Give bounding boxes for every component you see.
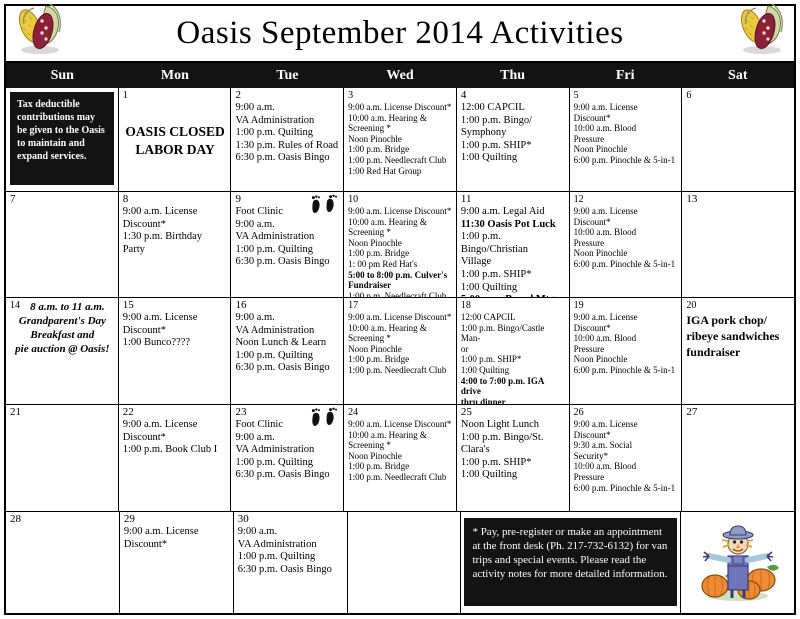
event-line: Security* (574, 451, 679, 462)
event-list: 9:00 a.m. License Discount*10:00 a.m. Bl… (574, 102, 679, 166)
event-list: Noon Light Lunch1:00 p.m. Bingo/St.Clara… (461, 419, 566, 482)
event-line: 9:00 a.m. License (574, 312, 679, 323)
event-list: 9:00 a.m. License Discount*10:00 a.m. Bl… (574, 312, 679, 376)
day-cell-18[interactable]: 18 12:00 CAPCIL1:00 p.m. Bingo/Castle Ma… (457, 298, 570, 404)
event-line: thru dinner (461, 397, 566, 404)
event-line: 1:00 p.m. Quilting (238, 551, 344, 564)
event-line: 1:00 p.m. Bridge (348, 144, 453, 155)
day-cell-28[interactable]: 28 (6, 512, 120, 613)
day-number: 26 (574, 407, 679, 418)
event-line: 9:00 a.m. License Discount* (348, 102, 453, 113)
event-list: 9:00 a.m. License Discount*10:00 a.m. He… (348, 102, 453, 176)
footprints-icon (309, 407, 339, 429)
event-line: 11:30 Oasis Pot Luck (461, 219, 566, 232)
day-number: 24 (348, 407, 453, 418)
event-line: Noon Pinochle (348, 134, 453, 145)
calendar-page: Oasis September 2014 Activities Sun Mon … (0, 4, 800, 619)
event-line: Screening * (348, 440, 453, 451)
event-line: VA Administration (235, 231, 340, 244)
day-number: 17 (348, 300, 453, 311)
event-line: 10:00 a.m. Hearing & (348, 323, 453, 334)
event-line: 6:00 p.m. Pinochle & 5-in-1 (574, 155, 679, 166)
fundraiser-line-1: IGA pork chop/ (686, 313, 767, 327)
day-number: 10 (348, 194, 453, 205)
event-line: 4:00 to 7:00 p.m. IGA drive (461, 376, 566, 397)
event-line: Fundraiser (348, 280, 453, 291)
weekday-sun: Sun (6, 63, 119, 88)
day-number: 12 (574, 194, 679, 205)
event-list: 9:00 a.m. LicenseDiscount*10:00 a.m. Blo… (574, 206, 679, 270)
event-line: Noon Pinochle (348, 451, 453, 462)
day-number: 22 (123, 407, 228, 418)
event-line: 1:00 p.m. Bingo/Christian (461, 231, 566, 256)
event-line: 6:00 p.m. Pinochle & 5-in-1 (574, 259, 679, 270)
fundraiser-line-2: ribeye sandwiches (686, 329, 779, 343)
event-line: Pressure (574, 344, 679, 355)
grandparents-line-2: Grandparent's Day (19, 315, 106, 327)
day-cell-tax-note: Tax deductible contributions may be give… (6, 88, 119, 191)
event-line: 1:00 p.m. Quilting (235, 244, 340, 257)
event-list: 9:00 a.m. License Discount* (124, 526, 230, 551)
grandparents-line-4: pie auction @ Oasis! (15, 343, 109, 355)
footprints-icon (309, 194, 339, 216)
event-line: 9:00 a.m. Legal Aid (461, 206, 566, 219)
event-line: 9:00 a.m. License (123, 312, 228, 325)
day-number: 16 (235, 300, 340, 311)
event-line: 6:30 p.m. Oasis Bingo (238, 564, 344, 577)
day-number: 29 (124, 514, 230, 525)
day-number: 1 (123, 90, 228, 101)
event-line: Noon Lunch & Learn (235, 337, 340, 350)
day-cell-24[interactable]: 24 9:00 a.m. License Discount*10:00 a.m.… (344, 405, 457, 511)
day-cell-2[interactable]: 2 9:00 a.m.VA Administration1:00 p.m. Qu… (231, 88, 344, 191)
event-line: 1:00 p.m. SHIP* (461, 457, 566, 470)
event-list: 9:00 a.m. License Discount*10:00 a.m. He… (348, 206, 453, 297)
event-line: Noon Pinochle (348, 238, 453, 249)
day-cell-7[interactable]: 7 (6, 192, 119, 297)
event-line: 10:00 a.m. Blood (574, 227, 679, 238)
event-line: 1:00 Quilting (461, 469, 566, 482)
event-line: 9:00 a.m. License (123, 206, 228, 219)
event-line: VA Administration (238, 539, 344, 552)
calendar-week-row: 21 22 9:00 a.m. License Discount*1:00 p.… (6, 405, 794, 512)
event-line: Discount* (574, 430, 679, 441)
event-list: 9:00 a.m. License Discount*10:00 a.m. He… (348, 419, 453, 483)
day-number: 13 (686, 194, 791, 205)
event-line: 6:00 p.m. Pinochle & 5-in-1 (574, 365, 679, 376)
event-line: 6:30 p.m. Oasis Bingo (235, 469, 340, 482)
day-number: 28 (10, 514, 116, 525)
weekday-mon: Mon (119, 63, 232, 88)
event-line: Noon Pinochle (348, 344, 453, 355)
event-list: 12:00 CAPCIL1:00 p.m. Bingo/Castle Man-o… (461, 312, 566, 404)
event-list: 9:00 a.m.VA Administration1:00 p.m. Quil… (238, 526, 344, 576)
day-number: 25 (461, 407, 566, 418)
event-line: 6:30 p.m. Oasis Bingo (235, 362, 340, 375)
event-line: Discount* (574, 217, 679, 228)
event-line: Pressure (574, 238, 679, 249)
event-list: 9:00 a.m. Legal Aid11:30 Oasis Pot Luck1… (461, 206, 566, 297)
event-line: 1:00 p.m. Needlecraft Club (348, 472, 453, 483)
event-line: Symphony (461, 127, 566, 140)
event-line: Party (123, 244, 228, 257)
day-number: 11 (461, 194, 566, 205)
event-line: 1:00 p.m. Needlecraft Club (348, 365, 453, 376)
day-number: 4 (461, 90, 566, 101)
day-cell-empty-1 (348, 512, 462, 613)
event-line: 10:00 a.m. Hearing & (348, 113, 453, 124)
event-list: 12:00 CAPCIL1:00 p.m. Bingo/Symphony1:00… (461, 102, 566, 165)
fundraiser-line-3: fundraiser (686, 345, 740, 359)
day-cell-1[interactable]: 1 OASIS CLOSED LABOR DAY (119, 88, 232, 191)
day-number: 15 (123, 300, 228, 311)
weekday-sat: Sat (681, 63, 794, 88)
event-line: 1:00 p.m. Bingo/Castle Man- (461, 323, 566, 344)
day-cell-5[interactable]: 5 9:00 a.m. License Discount*10:00 a.m. … (570, 88, 683, 191)
event-line: 1:00 p.m. Bridge (348, 248, 453, 259)
day-20-fundraiser-note: IGA pork chop/ ribeye sandwiches fundrai… (686, 312, 791, 360)
day-cell-13[interactable]: 13 (682, 192, 794, 297)
calendar-title-bar: Oasis September 2014 Activities (4, 4, 796, 63)
page-title: Oasis September 2014 Activities (176, 15, 623, 52)
day-cell-17[interactable]: 17 9:00 a.m. License Discount*10:00 a.m.… (344, 298, 457, 404)
event-line: 6:30 p.m. Oasis Bingo (235, 152, 340, 165)
event-line: Clara's (461, 444, 566, 457)
day-cell-6[interactable]: 6 (682, 88, 794, 191)
event-line: 1:00 Quilting (461, 282, 566, 295)
event-line: 1:00 p.m. Bridge (348, 354, 453, 365)
event-line: Discount* (123, 432, 228, 445)
event-line: 12:00 CAPCIL (461, 102, 566, 115)
event-list: 9:00 a.m. License Discount*1:30 p.m. Bir… (123, 206, 228, 256)
day-cell-4[interactable]: 4 12:00 CAPCIL1:00 p.m. Bingo/Symphony1:… (457, 88, 570, 191)
event-line: Screening * (348, 333, 453, 344)
event-list: 9:00 a.m.VA Administration1:00 p.m. Quil… (235, 102, 340, 165)
event-line: 5:00 p.m. Board Mtg. (461, 294, 566, 297)
event-list: 9:00 a.m. LicenseDiscount*1:00 Bunco???? (123, 312, 228, 350)
event-line: Discount* (574, 323, 679, 334)
event-line: 9:00 a.m. License (574, 102, 679, 113)
calendar-week-row: Tax deductible contributions may be give… (6, 88, 794, 192)
event-line: 1: 00 pm Red Hat's (348, 259, 453, 270)
tax-deductible-note: Tax deductible contributions may be give… (10, 92, 114, 185)
event-line: 6:00 p.m. Pinochle & 5-in-1 (574, 483, 679, 494)
event-line: 1:00 Red Hat Group (348, 166, 453, 177)
day-cell-25[interactable]: 25 Noon Light Lunch1:00 p.m. Bingo/St.Cl… (457, 405, 570, 511)
event-line: 1:00 Bunco???? (123, 337, 228, 350)
footer-instructions-note: * Pay, pre-register or make an appointme… (464, 518, 677, 606)
event-line: 1:00 p.m. Bridge (348, 461, 453, 472)
event-line: Discount* (574, 113, 679, 124)
weekday-tue: Tue (231, 63, 344, 88)
event-line: 1:00 p.m. Quilting (235, 457, 340, 470)
event-line: Pressure (574, 472, 679, 483)
event-line: 9:00 a.m. License (124, 526, 230, 539)
day-cell-15[interactable]: 15 9:00 a.m. LicenseDiscount*1:00 Bunco?… (119, 298, 232, 404)
event-line: Discount* (123, 219, 228, 232)
event-line: 9:30 a.m. Social (574, 440, 679, 451)
event-line: 10:00 a.m. Blood (574, 333, 679, 344)
weekday-header-row: Sun Mon Tue Wed Thu Fri Sat (4, 63, 796, 88)
event-line: 1:00 Quilting (461, 365, 566, 376)
weekday-wed: Wed (344, 63, 457, 88)
event-line: 9:00 a.m. License Discount* (348, 206, 453, 217)
calendar-week-row: 28 29 9:00 a.m. License Discount* 30 9:0… (6, 512, 794, 613)
day-cell-12[interactable]: 12 9:00 a.m. LicenseDiscount*10:00 a.m. … (570, 192, 683, 297)
event-line: Screening * (348, 123, 453, 134)
day-number: 14 (10, 300, 20, 311)
day-cell-19[interactable]: 19 9:00 a.m. License Discount*10:00 a.m.… (570, 298, 683, 404)
event-line: 10:00 a.m. Hearing & (348, 430, 453, 441)
event-line: 10:00 a.m. Hearing & Screening * (348, 217, 453, 238)
event-line: 1:00 p.m. Book Club I (123, 444, 228, 457)
event-line: 12:00 CAPCIL (461, 312, 566, 323)
weekday-fri: Fri (569, 63, 682, 88)
day-1-closed-label: OASIS CLOSED LABOR DAY (123, 123, 228, 159)
event-line: 9:00 a.m. (235, 219, 340, 232)
day-cell-20[interactable]: 20 IGA pork chop/ ribeye sandwiches fund… (682, 298, 794, 404)
day-cell-16[interactable]: 16 9:00 a.m.VA AdministrationNoon Lunch … (231, 298, 344, 404)
event-line: 9:00 a.m. License Discount* (348, 419, 453, 430)
day-number: 27 (686, 407, 791, 418)
event-line: 1:00 p.m. SHIP* (461, 269, 566, 282)
day-number: 30 (238, 514, 344, 525)
event-line: 9:00 a.m. License Discount* (348, 312, 453, 323)
event-line: or (461, 344, 566, 355)
grandparents-line-1: 8 a.m. to 11 a.m. (30, 301, 105, 313)
event-line: 9:00 a.m. (235, 432, 340, 445)
day-number: 5 (574, 90, 679, 101)
event-line: Discount* (124, 539, 230, 552)
scarecrow-icon (695, 520, 781, 606)
event-line: Noon Pinochle (574, 248, 679, 259)
day-cell-10[interactable]: 10 9:00 a.m. License Discount*10:00 a.m.… (344, 192, 457, 297)
event-line: 1:00 Quilting (461, 152, 566, 165)
event-line: 1:00 p.m. Bingo/St. (461, 432, 566, 445)
event-line: 1:00 p.m. SHIP* (461, 354, 566, 365)
event-list: 9:00 a.m. License Discount*10:00 a.m. He… (348, 312, 453, 376)
day-number: 21 (10, 407, 115, 418)
calendar-week-row: 14 8 a.m. to 11 a.m. Grandparent's Day B… (6, 298, 794, 405)
day-number: 7 (10, 194, 115, 205)
event-line: 5:00 to 8:00 p.m. Culver's (348, 270, 453, 281)
event-line: 1:30 p.m. Birthday (123, 231, 228, 244)
day-number: 20 (686, 300, 791, 311)
event-line: 6:30 p.m. Oasis Bingo (235, 256, 340, 269)
day-number: 3 (348, 90, 453, 101)
day-cell-27[interactable]: 27 (682, 405, 794, 511)
event-line: 9:00 a.m. License (123, 419, 228, 432)
day-number: 8 (123, 194, 228, 205)
event-line: 9:00 a.m. (238, 526, 344, 539)
day-number: 2 (235, 90, 340, 101)
day-cell-29[interactable]: 29 9:00 a.m. License Discount* (120, 512, 234, 613)
day-number: 18 (461, 300, 566, 311)
day-cell-21[interactable]: 21 (6, 405, 119, 511)
day-number: 6 (686, 90, 791, 101)
event-line: 9:00 a.m. (235, 312, 340, 325)
calendar-week-row: 7 8 9:00 a.m. License Discount*1:30 p.m.… (6, 192, 794, 298)
event-line: Discount* (123, 325, 228, 338)
event-line: 1:00 p.m. Quilting (235, 350, 340, 363)
corn-icon (12, 0, 66, 58)
event-line: VA Administration (235, 444, 340, 457)
event-line: 1:30 p.m. Rules of Road (235, 140, 340, 153)
event-list: 9:00 a.m.VA AdministrationNoon Lunch & L… (235, 312, 340, 375)
event-line: Village (461, 256, 566, 269)
grandparents-line-3: Breakfast and (30, 329, 94, 341)
calendar-grid: Tax deductible contributions may be give… (4, 88, 796, 615)
weekday-thu: Thu (456, 63, 569, 88)
day-14-grandparents-note: 14 8 a.m. to 11 a.m. Grandparent's Day B… (10, 300, 115, 356)
event-line: 9:00 a.m. License (574, 206, 679, 217)
day-cell-8[interactable]: 8 9:00 a.m. License Discount*1:30 p.m. B… (119, 192, 232, 297)
event-line: 10:00 a.m. Blood (574, 461, 679, 472)
event-line: 1:00 p.m. Needlecraft Club (348, 291, 453, 297)
event-line: 1:00 p.m. SHIP* (461, 140, 566, 153)
event-line: 10:00 a.m. Blood (574, 123, 679, 134)
day-cell-30[interactable]: 30 9:00 a.m.VA Administration1:00 p.m. Q… (234, 512, 348, 613)
event-line: VA Administration (235, 115, 340, 128)
event-line: Noon Pinochle (574, 144, 679, 155)
day-cell-9[interactable]: 9 Foot Clinic9:00 a.m.VA Administration1… (231, 192, 344, 297)
day-cell-22[interactable]: 22 9:00 a.m. License Discount*1:00 p.m. … (119, 405, 232, 511)
event-line: VA Administration (235, 325, 340, 338)
scarecrow-decoration-cell (681, 512, 794, 613)
event-line: Pressure (574, 134, 679, 145)
day-cell-14[interactable]: 14 8 a.m. to 11 a.m. Grandparent's Day B… (6, 298, 119, 404)
event-line: 9:00 a.m. License (574, 419, 679, 430)
day-cell-26[interactable]: 26 9:00 a.m. LicenseDiscount*9:30 a.m. S… (570, 405, 683, 511)
event-line: 1:00 p.m. Bingo/ (461, 115, 566, 128)
event-line: 1:00 p.m. Quilting (235, 127, 340, 140)
event-list: 9:00 a.m. License Discount*1:00 p.m. Boo… (123, 419, 228, 457)
event-line: Noon Pinochle (574, 354, 679, 365)
event-line: 9:00 a.m. (235, 102, 340, 115)
footer-note-cell: * Pay, pre-register or make an appointme… (461, 512, 681, 613)
day-cell-11[interactable]: 11 9:00 a.m. Legal Aid11:30 Oasis Pot Lu… (457, 192, 570, 297)
event-list: 9:00 a.m. LicenseDiscount*9:30 a.m. Soci… (574, 419, 679, 493)
day-cell-3[interactable]: 3 9:00 a.m. License Discount*10:00 a.m. … (344, 88, 457, 191)
day-cell-23[interactable]: 23 Foot Clinic9:00 a.m.VA Administration… (231, 405, 344, 511)
event-line: Noon Light Lunch (461, 419, 566, 432)
day-number: 19 (574, 300, 679, 311)
event-line: 1:00 p.m. Needlecraft Club (348, 155, 453, 166)
corn-icon (734, 0, 788, 58)
